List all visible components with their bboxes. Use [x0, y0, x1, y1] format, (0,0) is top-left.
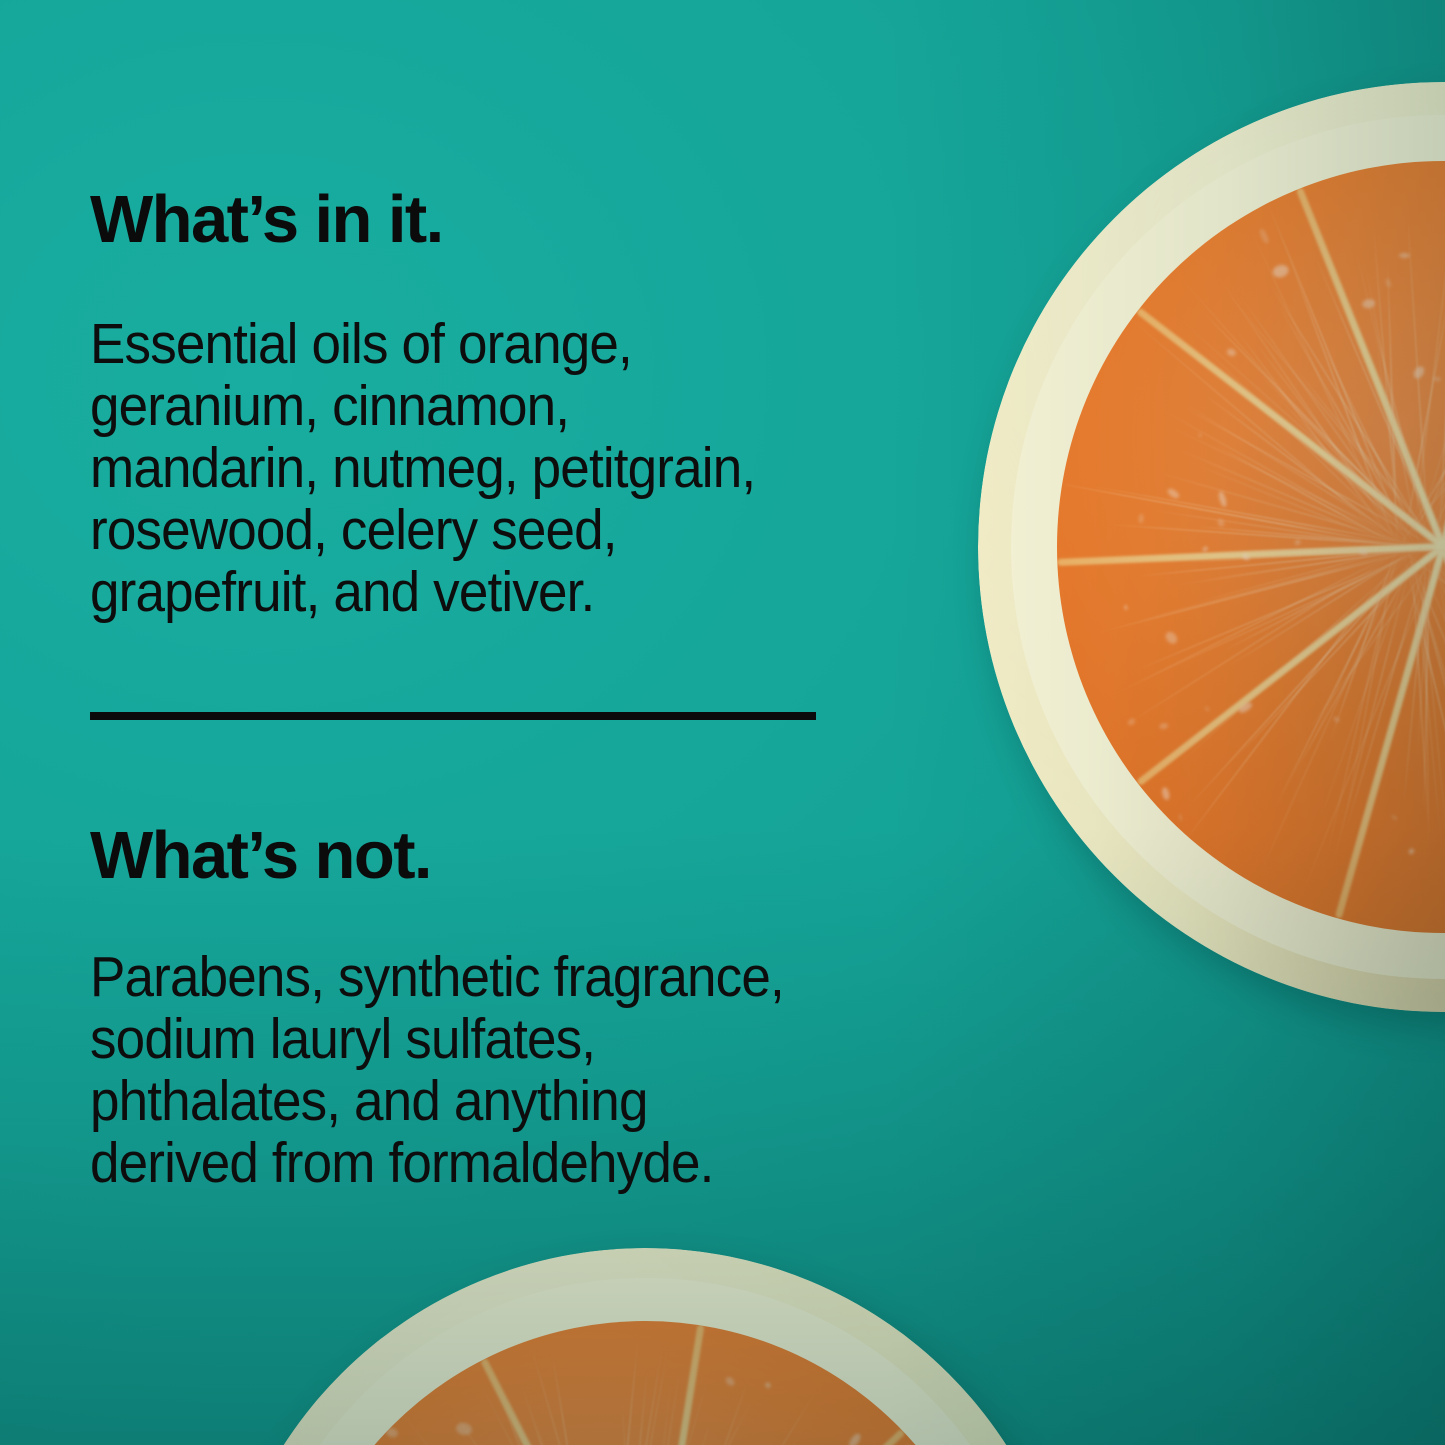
- ingredients-line-1: Essential oils of orange,: [90, 313, 755, 375]
- exclusions-line-4: derived from formaldehyde.: [90, 1132, 784, 1194]
- heading-whats-in-it: What’s in it.: [90, 186, 443, 253]
- ingredients-line-4: rosewood, celery seed,: [90, 499, 755, 561]
- heading-whats-not: What’s not.: [90, 822, 431, 889]
- ingredients-line-3: mandarin, nutmeg, petitgrain,: [90, 437, 755, 499]
- ingredients-list: Essential oils of orange, geranium, cinn…: [90, 313, 755, 623]
- exclusions-list: Parabens, synthetic fragrance, sodium la…: [90, 946, 784, 1194]
- exclusions-line-2: sodium lauryl sulfates,: [90, 1008, 784, 1070]
- exclusions-line-3: phthalates, and anything: [90, 1070, 784, 1132]
- ingredients-line-5: grapefruit, and vetiver.: [90, 561, 755, 623]
- section-divider: [90, 712, 816, 720]
- exclusions-line-1: Parabens, synthetic fragrance,: [90, 946, 784, 1008]
- product-ingredients-panel: What’s in it. Essential oils of orange, …: [0, 0, 1445, 1445]
- ingredients-line-2: geranium, cinnamon,: [90, 375, 755, 437]
